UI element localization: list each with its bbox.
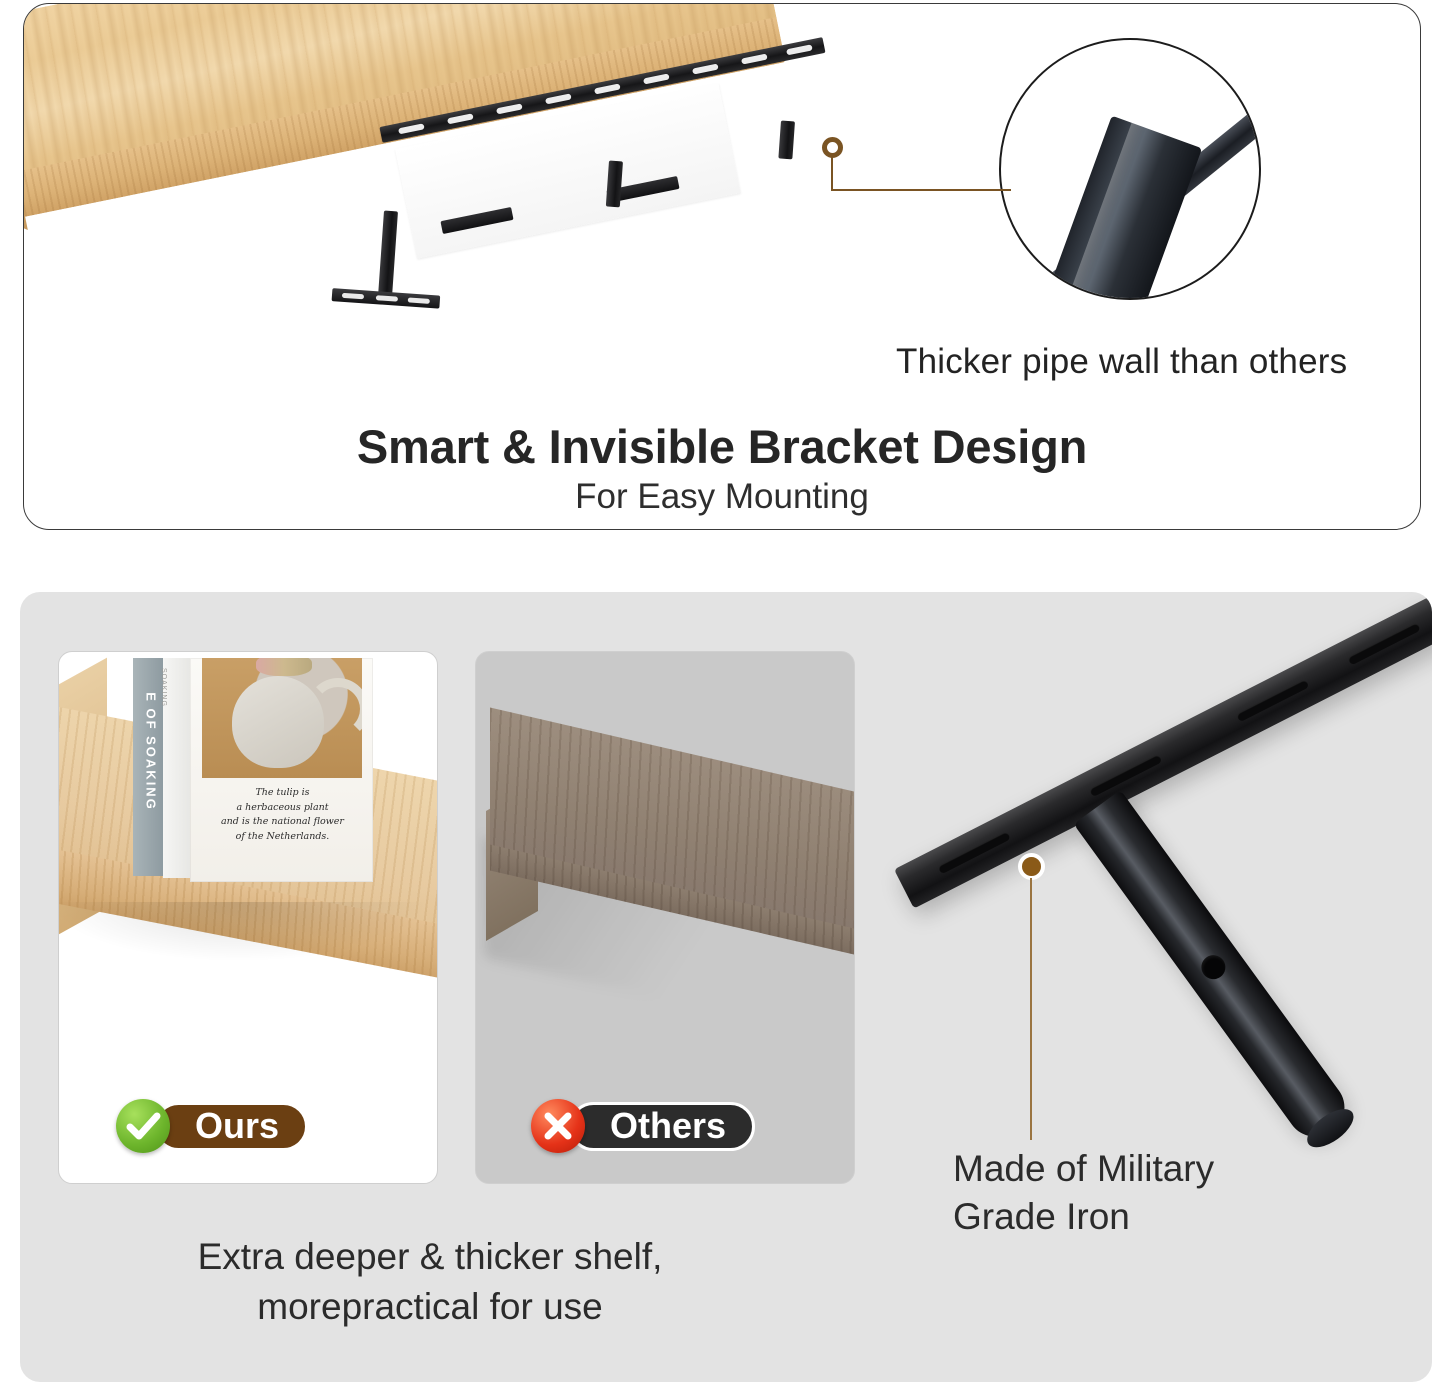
shelf-with-bracket-illustration [23,3,909,399]
book-cover-photo [202,658,362,778]
book-page-edge: SOAKING [163,658,190,878]
rail-slot [741,54,768,65]
pipe-joint-zoom-circle [999,38,1261,300]
page-subtitle: For Easy Mounting [24,477,1420,517]
bar-slot [1089,754,1163,797]
quote-line: a herbaceous plant [200,801,365,816]
rail-slot [398,123,425,134]
iron-caption-line1: Made of Military [953,1145,1373,1193]
foot-slot [376,295,398,302]
rail-slot [692,63,719,74]
rail-slot [496,103,523,114]
badge-others-label: Others [569,1102,755,1151]
bracket-round-pipe [1074,790,1356,1148]
jug-handle-shape [307,678,362,740]
callout-marker-icon [822,137,843,158]
decorative-book: E OF SOAKING SOAKING The tulip is a herb… [133,658,373,880]
book-edge-text: SOAKING [160,668,167,686]
comparison-card-ours: E OF SOAKING SOAKING The tulip is a herb… [58,651,438,1184]
bracket-arm-right [778,121,795,160]
bar-slot [1236,679,1310,722]
badge-others: Others [531,1099,755,1153]
iron-caption: Made of Military Grade Iron [953,1145,1373,1241]
callout-label: Thicker pipe wall than others [896,342,1421,382]
bar-slot [937,831,1011,874]
comparison-caption: Extra deeper & thicker shelf, morepracti… [60,1232,800,1332]
rail-slot [643,73,670,84]
quote-line: The tulip is [200,786,365,801]
bracket-arm-left [378,211,398,298]
quote-line: and is the national flower [200,815,365,830]
cross-icon [531,1099,585,1153]
book-spine-text: E OF SOAKING [144,657,159,847]
zoom-pipe [1033,116,1202,300]
bar-slot [1347,622,1421,665]
comparison-caption-line1: Extra deeper & thicker shelf, [60,1232,800,1282]
book-cover: The tulip is a herbaceous plant and is t… [190,658,373,882]
others-shelf-illustration [490,756,855,956]
rail-slot [447,113,474,124]
rail-slot [786,44,813,55]
comparison-card-others: Others [475,651,855,1184]
book-spine: E OF SOAKING [133,658,163,876]
bracket-product-photo [880,592,1432,1232]
rail-slot [545,93,572,104]
bracket-arm-foot [332,288,441,309]
quote-line: of the Netherlands. [200,830,365,845]
foot-slot [408,297,430,304]
callout-leader-horizontal [831,189,1011,191]
check-icon [116,1099,170,1153]
book-cover-quote: The tulip is a herbaceous plant and is t… [200,786,365,845]
rail-slot [594,83,621,94]
comparison-panel: E OF SOAKING SOAKING The tulip is a herb… [20,592,1432,1382]
flower-shape [256,658,312,676]
page-title: Smart & Invisible Bracket Design [24,419,1420,474]
badge-ours: Ours [116,1099,308,1153]
foot-slot [342,293,364,300]
top-feature-card: Thicker pipe wall than others Smart & In… [23,3,1421,530]
badge-ours-label: Ours [154,1102,308,1151]
pipe-hole [1197,950,1231,984]
iron-caption-line2: Grade Iron [953,1193,1373,1241]
ours-shelf-shadow [58,902,429,962]
callout-leader-vertical [831,157,833,191]
comparison-caption-line2: morepractical for use [60,1282,800,1332]
iron-callout-leader-line [1030,878,1032,1140]
iron-callout-marker-icon [1018,853,1045,880]
